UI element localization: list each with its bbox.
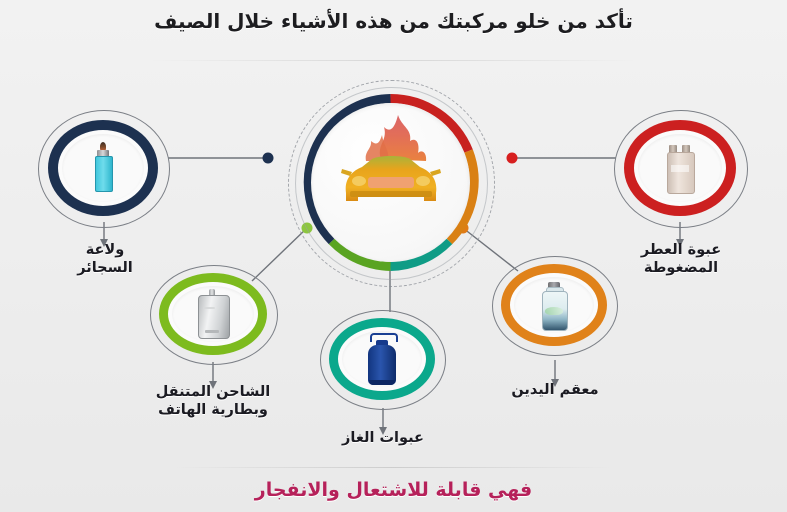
node-perfume-bottle[interactable] [614,110,748,228]
gas-cylinder-icon [366,333,398,385]
powerbank-ring [159,273,267,355]
node-power-bank[interactable] [150,265,278,365]
hub-dot-lighter [263,153,274,164]
label-gas-cylinder: عبوات الغاز [308,429,458,447]
gas-ring [329,318,435,400]
sanitizer-ring [501,264,607,346]
perfume-bottle-icon [665,142,695,194]
label-hand-sanitizer: معقم اليدين [480,381,630,399]
node-cigarette-lighter[interactable] [38,110,170,228]
hub-dot-perfume [507,153,518,164]
hand-sanitizer-icon [540,279,568,331]
label-power-bank: الشاحن المتنقل وبطارية الهاتف [120,383,306,419]
infographic-canvas: تأكد من خلو مركبتك من هذه الأشياء خلال ا… [0,0,787,512]
footer-divider [175,467,612,468]
node-hand-sanitizer[interactable] [492,256,618,356]
footer-warning: فهي قابلة للاشتعال والانفجار [0,479,787,501]
node-gas-cylinder[interactable] [320,310,446,410]
cigarette-lighter-icon [93,144,113,192]
perfume-ring [624,120,736,216]
power-bank-icon [196,289,230,339]
center-node-burning-car[interactable] [283,75,498,290]
burning-car-icon [326,101,456,221]
lighter-ring [48,120,158,216]
label-perfume-bottle: عبوة العطر المضغوطة [602,241,760,277]
